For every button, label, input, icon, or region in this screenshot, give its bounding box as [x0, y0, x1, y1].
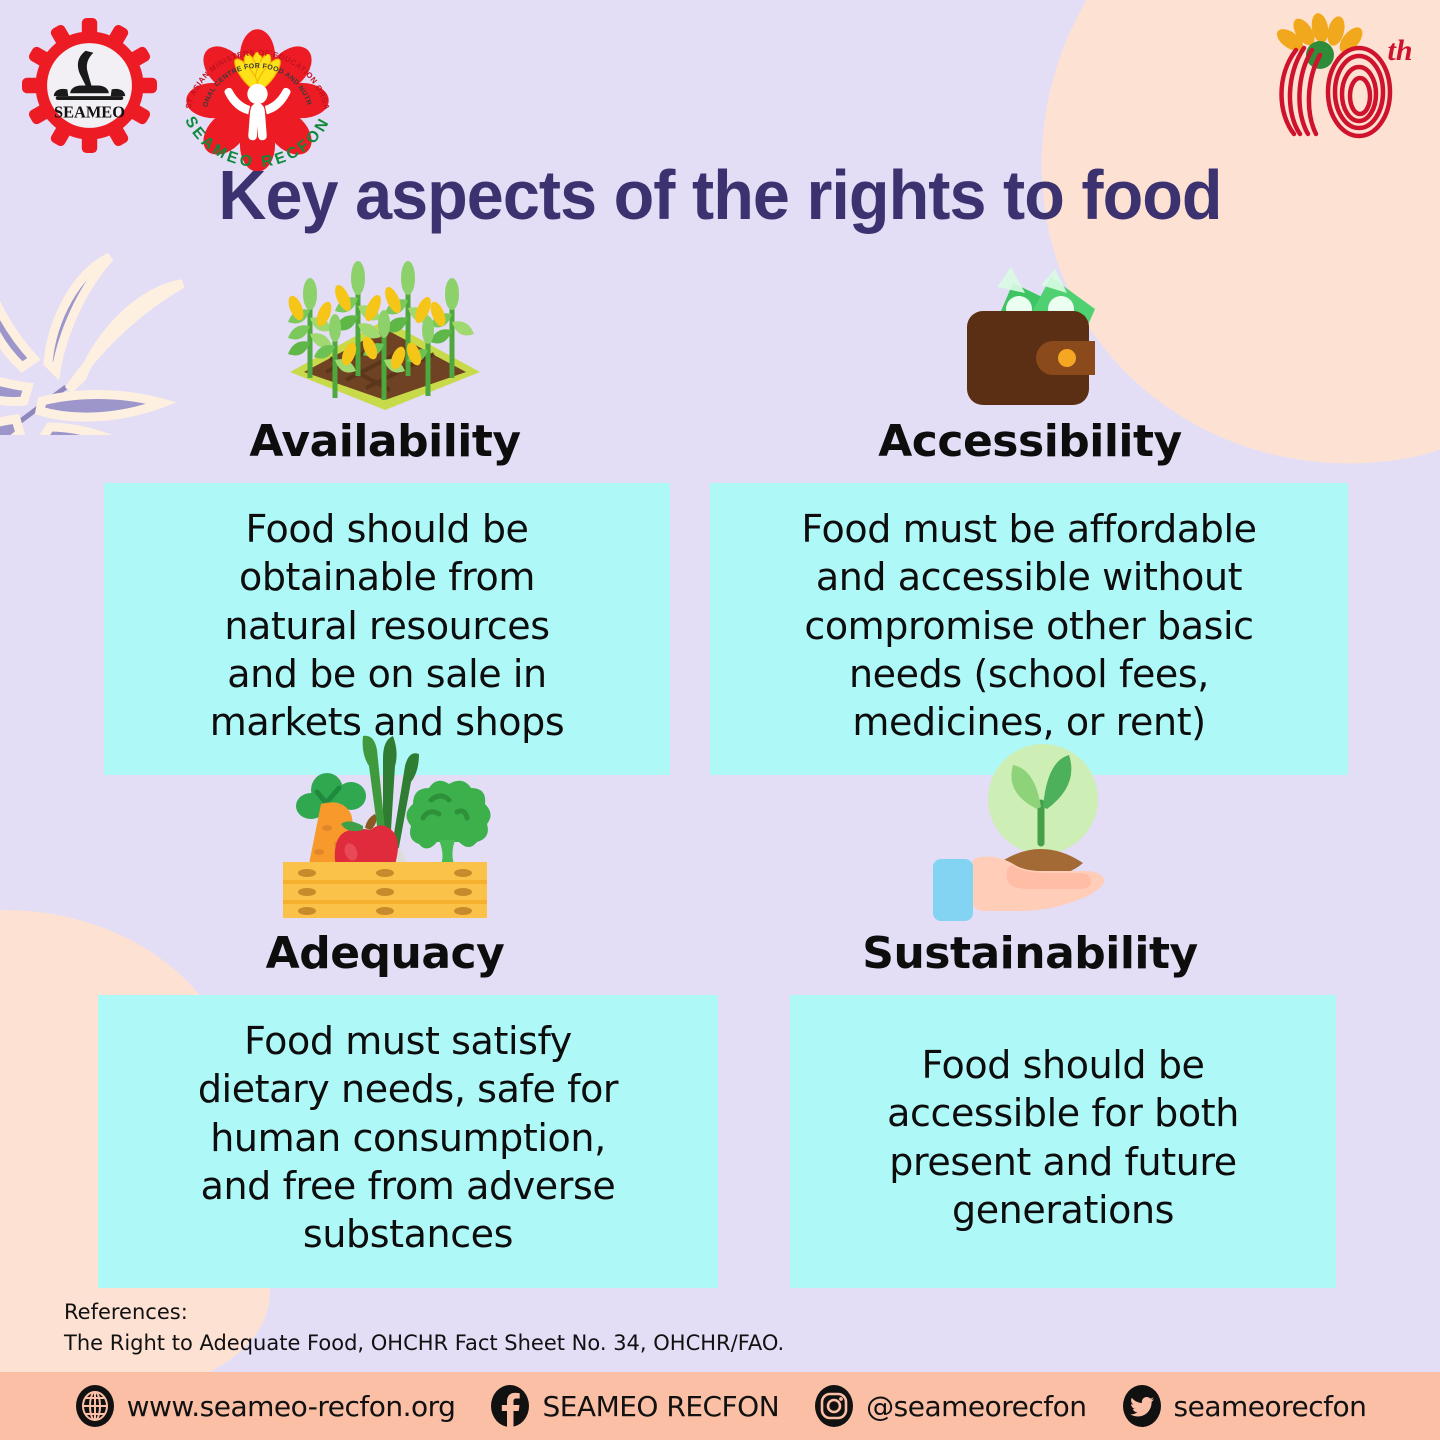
aspect-card-sustainability: Sustainability Food should be accessible… [700, 747, 1360, 1288]
tenth-anniversary-logo: th [1228, 10, 1418, 155]
aspect-card-availability: Availability Food should be obtainable f… [80, 235, 690, 775]
aspect-body-sustainability: Food should be accessible for both prese… [802, 1041, 1324, 1234]
aspect-body-accessibility: Food must be affordable and accessible w… [722, 505, 1336, 746]
aspect-title-accessibility: Accessibility [700, 416, 1360, 467]
anniversary-suffix-text: th [1387, 34, 1412, 67]
infographic-page: SEAMEO [0, 0, 1440, 1440]
wallet-money-icon [700, 235, 1360, 410]
aspect-title-adequacy: Adequacy [80, 928, 690, 979]
aspect-box-sustainability: Food should be accessible for both prese… [790, 995, 1336, 1288]
aspect-title-availability: Availability [80, 416, 690, 467]
instagram-icon [813, 1385, 855, 1427]
hand-sprout-icon [700, 747, 1360, 922]
footer-item-twitter[interactable]: seameorecfon [1121, 1385, 1367, 1427]
footer-label-facebook: SEAMEO RECFON [542, 1390, 779, 1423]
logo-header: SEAMEO [0, 0, 1440, 180]
social-footer-bar: www.seameo-recfon.org SEAMEO RECFON @sea… [0, 1372, 1440, 1440]
vegetable-crate-icon [80, 747, 690, 922]
footer-label-instagram: @seameorecfon [866, 1390, 1086, 1423]
footer-label-website: www.seameo-recfon.org [127, 1390, 456, 1423]
footer-label-twitter: seameorecfon [1174, 1390, 1367, 1423]
twitter-icon [1121, 1385, 1163, 1427]
globe-icon [74, 1385, 116, 1427]
aspect-body-availability: Food should be obtainable from natural r… [116, 505, 658, 746]
aspect-card-adequacy: Adequacy Food must satisfy dietary needs… [80, 747, 690, 1288]
aspect-box-accessibility: Food must be affordable and accessible w… [710, 483, 1348, 775]
seameo-logo: SEAMEO [22, 18, 157, 153]
facebook-icon [489, 1385, 531, 1427]
references-text: References: The Right to Adequate Food, … [64, 1297, 784, 1358]
aspect-box-adequacy: Food must satisfy dietary needs, safe fo… [98, 995, 718, 1288]
footer-item-facebook[interactable]: SEAMEO RECFON [489, 1385, 779, 1427]
footer-item-instagram[interactable]: @seameorecfon [813, 1385, 1086, 1427]
aspect-card-accessibility: Accessibility Food must be affordable an… [700, 235, 1360, 775]
page-title: Key aspects of the rights to food [36, 160, 1404, 230]
aspect-title-sustainability: Sustainability [700, 928, 1360, 979]
footer-item-website[interactable]: www.seameo-recfon.org [74, 1385, 456, 1427]
aspect-body-adequacy: Food must satisfy dietary needs, safe fo… [110, 1017, 706, 1258]
seameo-logo-text: SEAMEO [54, 102, 125, 121]
cornfield-icon [80, 235, 690, 410]
